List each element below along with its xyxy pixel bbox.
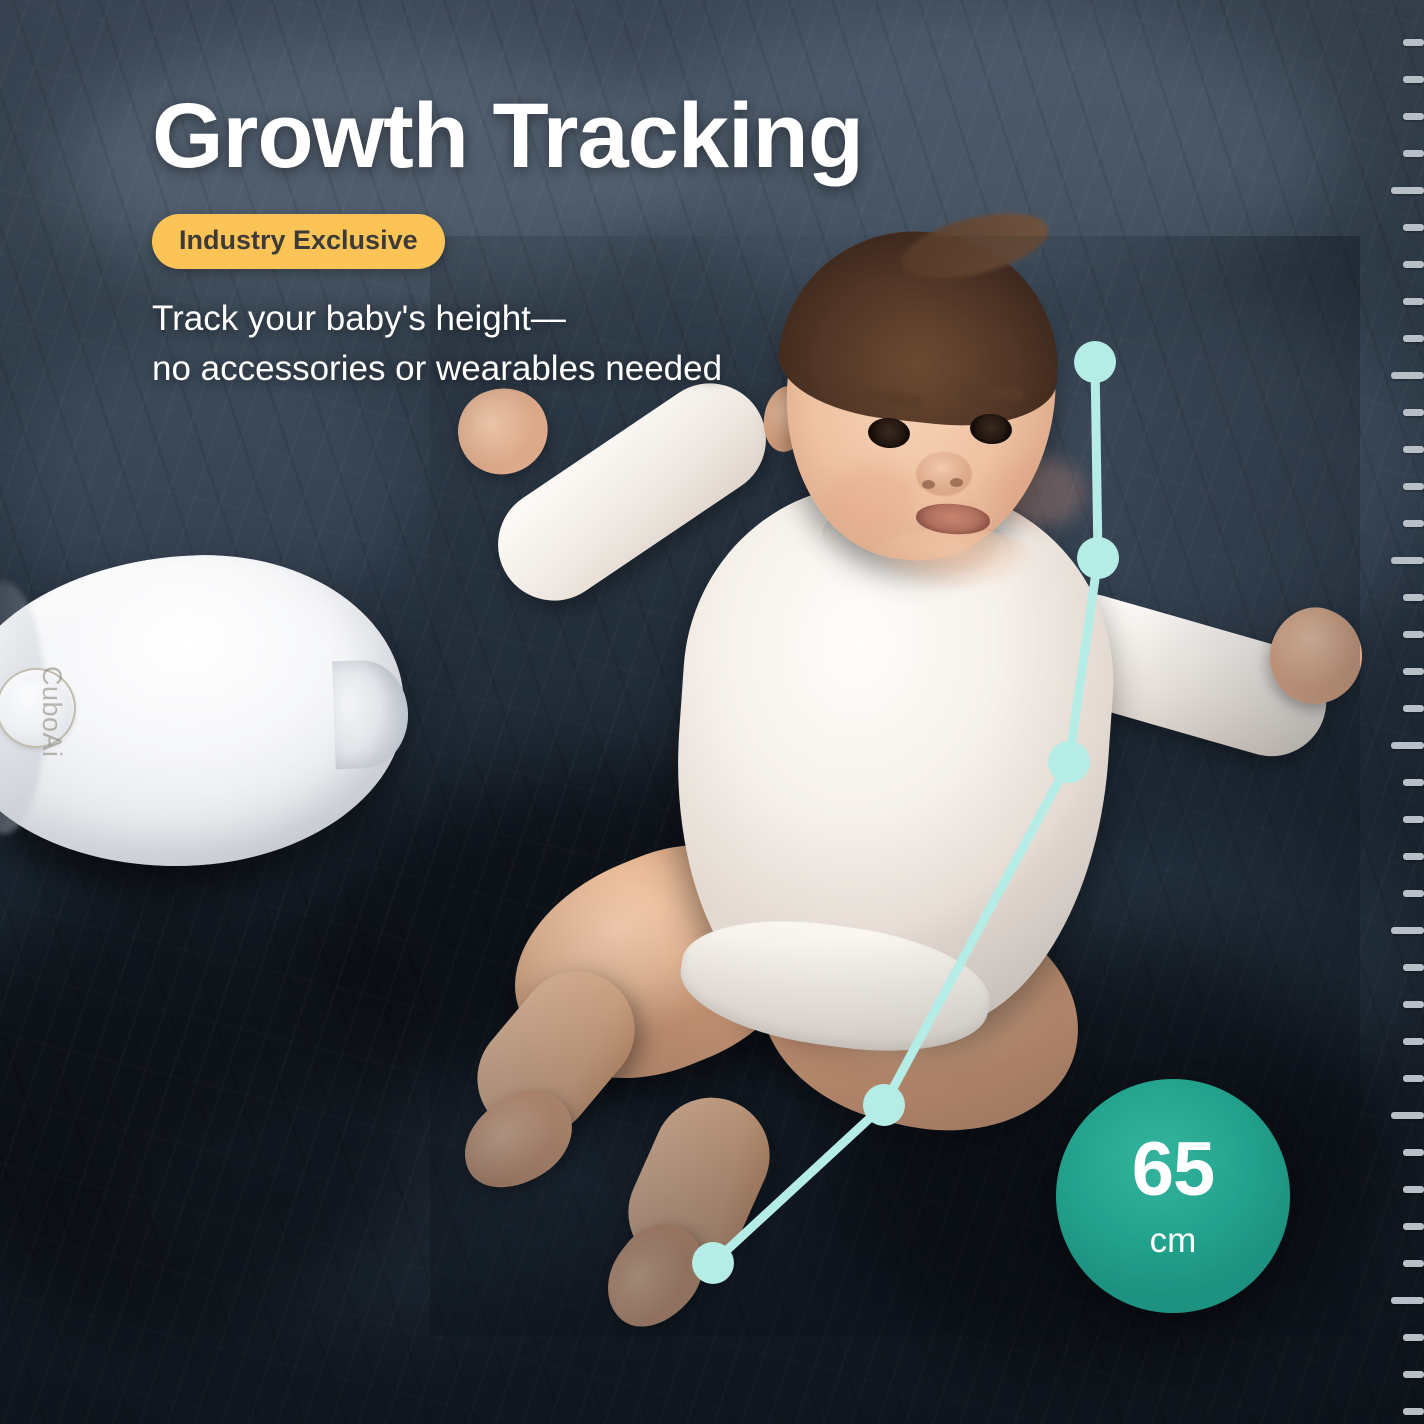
growth-point-5[interactable] xyxy=(1074,341,1116,383)
measurement-bubble: 65 cm xyxy=(1056,1079,1290,1313)
growth-point-1[interactable] xyxy=(692,1242,734,1284)
growth-tracking-promo: CuboAi Growth Tracking xyxy=(0,0,1424,1424)
subtitle-text: Track your baby's height— no accessories… xyxy=(152,294,722,393)
growth-point-4[interactable] xyxy=(1077,537,1119,579)
measurement-value: 65 xyxy=(1132,1134,1215,1207)
industry-exclusive-badge: Industry Exclusive xyxy=(152,214,445,269)
growth-point-3[interactable] xyxy=(1048,741,1090,783)
page-title: Growth Tracking xyxy=(152,88,863,185)
growth-line xyxy=(713,362,1098,1263)
growth-point-2[interactable] xyxy=(863,1084,905,1126)
measurement-unit: cm xyxy=(1150,1223,1197,1258)
